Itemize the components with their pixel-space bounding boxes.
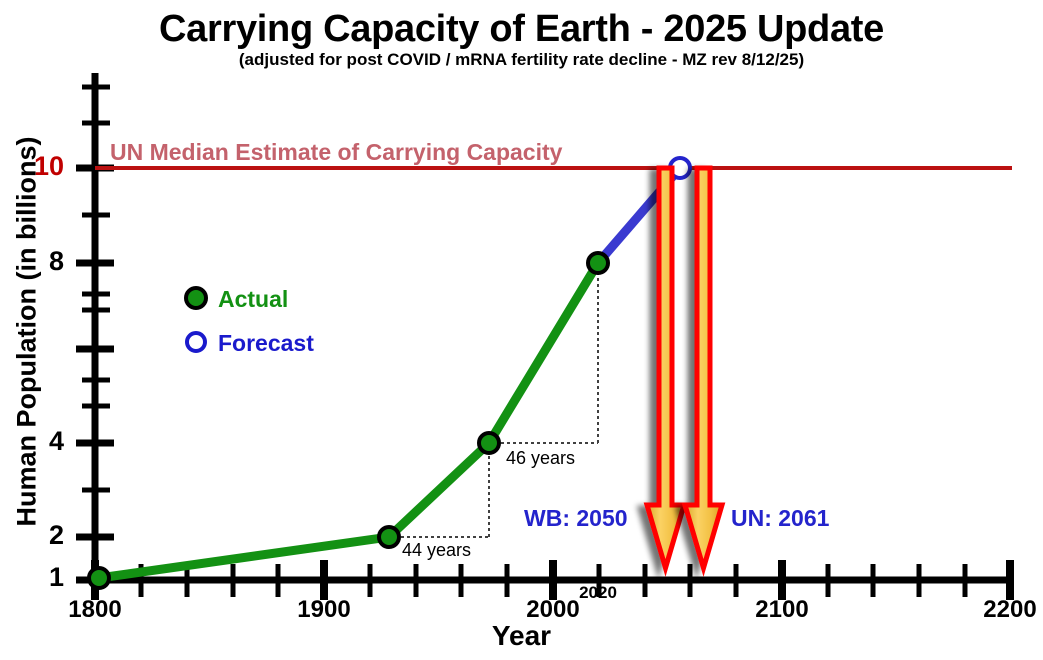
legend-item-forecast: Forecast bbox=[218, 330, 314, 357]
legend-actual-marker bbox=[186, 288, 206, 308]
plot-area bbox=[0, 0, 1043, 660]
x-tick-label-1900: 1900 bbox=[269, 596, 379, 624]
y-tick-label-2: 2 bbox=[18, 520, 64, 551]
y-tick-label-1: 1 bbox=[18, 562, 64, 593]
x-tick-label-2100: 2100 bbox=[727, 596, 837, 624]
y-tick-label-4: 4 bbox=[18, 426, 64, 457]
doubling-time-label-44: 44 years bbox=[402, 540, 471, 561]
un-line-label: UN Median Estimate of Carrying Capacity bbox=[110, 139, 562, 166]
x-tick-label-2020: 2020 bbox=[563, 583, 633, 603]
arrow-label-wb-2050: WB: 2050 bbox=[524, 505, 628, 532]
y-tick-label-10: 10 bbox=[18, 151, 64, 182]
actual-data-points bbox=[89, 253, 608, 588]
doubling-time-label-46: 46 years bbox=[506, 448, 575, 469]
chart-canvas: Carrying Capacity of Earth - 2025 Update… bbox=[0, 0, 1043, 660]
x-tick-label-2200: 2200 bbox=[955, 596, 1043, 624]
arrow-label-un-2061: UN: 2061 bbox=[731, 505, 829, 532]
legend-item-actual: Actual bbox=[218, 286, 288, 313]
legend-forecast-marker bbox=[187, 333, 205, 351]
wb-2050-arrow bbox=[647, 168, 684, 568]
un-2061-arrow bbox=[685, 168, 722, 568]
y-tick-label-8: 8 bbox=[18, 246, 64, 277]
x-tick-label-1800: 1800 bbox=[40, 596, 150, 624]
